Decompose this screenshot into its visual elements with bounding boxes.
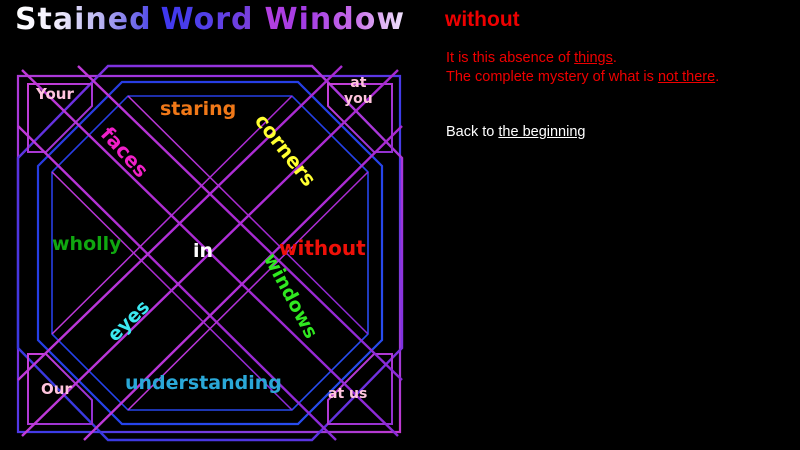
- stanza-line-1: It is this absence of things.: [446, 49, 719, 68]
- word-at-you-line-2: you: [344, 91, 373, 107]
- page-title: StainedWordWindow: [0, 2, 420, 37]
- title-word-stained: Stained: [15, 2, 152, 37]
- stanza-line-2-after: .: [715, 69, 719, 85]
- word-window-panel: StainedWordWindow: [0, 0, 420, 450]
- word-our: Our: [41, 380, 72, 398]
- stanza-line-1-after: .: [613, 50, 617, 66]
- link-things[interactable]: things: [574, 50, 613, 66]
- back-prefix: Back to: [446, 124, 498, 140]
- word-without: without: [279, 236, 366, 260]
- back-navigation: Back to the beginning: [446, 124, 585, 140]
- stanza-heading: without: [445, 8, 520, 32]
- stanza-panel: without It is this absence of things. Th…: [432, 0, 800, 450]
- word-at-you-line-1: at: [344, 75, 373, 91]
- stanza-line-2: The complete mystery of what is not ther…: [446, 68, 719, 87]
- word-at-you: atyou: [344, 75, 373, 107]
- word-understanding: understanding: [125, 372, 282, 394]
- link-not-there[interactable]: not there: [658, 69, 715, 85]
- stanza-line-2-before: The complete mystery of what is: [446, 69, 658, 85]
- word-wholly: wholly: [52, 233, 122, 255]
- stanza-body: It is this absence of things. The comple…: [446, 49, 719, 87]
- stanza-line-1-before: It is this absence of: [446, 50, 574, 66]
- word-at-us: at us: [328, 386, 367, 402]
- word-your: Your: [36, 85, 74, 103]
- title-word-word: Word: [161, 2, 254, 37]
- link-the-beginning[interactable]: the beginning: [498, 124, 585, 140]
- word-in: in: [193, 240, 213, 262]
- title-word-window: Window: [265, 2, 406, 37]
- word-staring: staring: [160, 98, 236, 120]
